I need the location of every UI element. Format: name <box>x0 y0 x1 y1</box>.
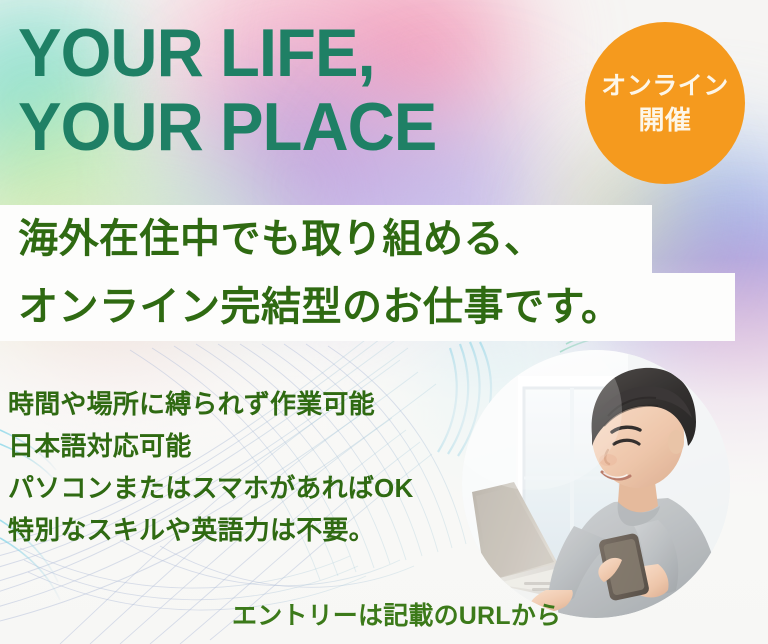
promo-banner: YOUR LIFE, YOUR PLACE オンライン 開催 海外在住中でも取り… <box>0 0 768 644</box>
badge-line-2: 開催 <box>638 105 691 135</box>
feature-item-3: パソコンまたはスマホがあればOK <box>8 467 413 509</box>
headline: YOUR LIFE, YOUR PLACE <box>18 16 638 164</box>
headline-line-2: YOUR PLACE <box>18 90 613 164</box>
headline-panel-1: 海外在住中でも取り組める、 <box>0 205 652 273</box>
person-photo <box>462 350 730 618</box>
panel-text-1: 海外在住中でも取り組める、 <box>0 216 545 262</box>
headline-line-1: YOUR LIFE, <box>18 16 613 90</box>
headline-panel-2: オンライン完結型のお仕事です。 <box>0 273 735 341</box>
feature-item-1: 時間や場所に縛られず作業可能 <box>8 383 413 425</box>
feature-list: 時間や場所に縛られず作業可能 日本語対応可能 パソコンまたはスマホがあればOK … <box>8 383 413 551</box>
feature-item-4: 特別なスキルや英語力は不要。 <box>8 509 413 551</box>
online-event-badge: オンライン 開催 <box>585 22 745 184</box>
badge-line-1: オンライン <box>601 71 729 101</box>
panel-text-2: オンライン完結型のお仕事です。 <box>0 284 622 330</box>
person-photo-illustration <box>462 350 730 618</box>
feature-item-2: 日本語対応可能 <box>8 425 413 467</box>
entry-instruction: エントリーは記載のURLから <box>232 600 561 632</box>
